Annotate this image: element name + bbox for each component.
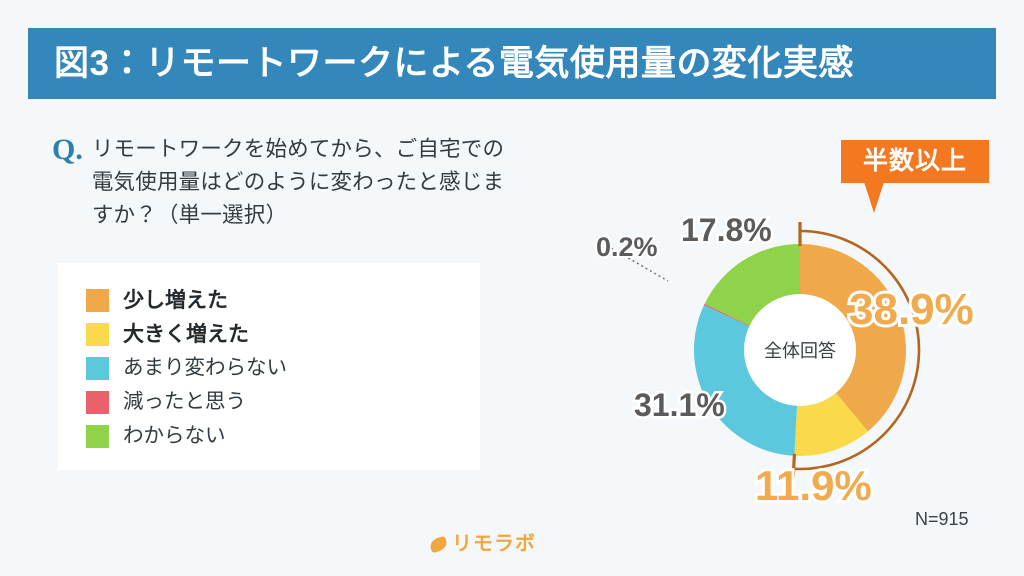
half-or-more-badge-label: 半数以上 <box>863 149 967 174</box>
sample-size-label: N=915 <box>915 510 969 528</box>
question-marker: Q. <box>52 135 83 165</box>
page-title: 図3：リモートワークによる電気使用量の変化実感 <box>54 46 854 81</box>
question-block: Q. リモートワークを始めてから、ご自宅での 電気使用量はどのように変わったと感… <box>52 133 612 232</box>
data-label-amari-kawaranai: 31.1% <box>634 389 725 421</box>
legend-item: 少し増えた <box>86 283 480 317</box>
legend-item-label: 大きく増えた <box>123 324 249 345</box>
legend-item-label: わからない <box>123 426 226 447</box>
legend-swatch-icon <box>86 357 109 380</box>
question-line-3: すか？（単一選択） <box>92 199 504 232</box>
leaf-icon <box>428 535 448 553</box>
data-label-hetta-to-omou: 0.2% <box>596 234 658 261</box>
footer-logo-label: リモラボ <box>452 534 536 554</box>
infographic-root: 図3：リモートワークによる電気使用量の変化実感 Q. リモートワークを始めてから… <box>0 0 1024 576</box>
legend-swatch-icon <box>86 391 109 414</box>
data-label-wakaranai: 17.8% <box>681 214 772 246</box>
legend-item: あまり変わらない <box>86 351 480 385</box>
question-line-1: リモートワークを始めてから、ご自宅での <box>92 133 504 166</box>
footer-logo: リモラボ <box>430 534 536 554</box>
legend-item-label: あまり変わらない <box>123 358 287 379</box>
legend: 少し増えた 大きく増えた あまり変わらない 減ったと思う わからない <box>58 263 480 470</box>
question-line-2: 電気使用量はどのように変わったと感じま <box>92 166 504 199</box>
legend-item: わからない <box>86 419 480 453</box>
donut-hole <box>744 294 856 406</box>
data-label-ookiku-fueta: 11.9% <box>755 465 872 507</box>
data-label-sukoshi-fueta: 38.9% <box>849 288 974 332</box>
badge-tail-icon <box>864 182 884 213</box>
legend-swatch-icon <box>86 425 109 448</box>
legend-swatch-icon <box>86 289 109 312</box>
question-text: リモートワークを始めてから、ご自宅での 電気使用量はどのように変わったと感じま … <box>92 133 504 232</box>
title-banner: 図3：リモートワークによる電気使用量の変化実感 <box>28 28 996 99</box>
legend-item: 大きく増えた <box>86 317 480 351</box>
legend-item-label: 減ったと思う <box>123 392 246 413</box>
half-or-more-badge: 半数以上 <box>841 140 989 183</box>
legend-item: 減ったと思う <box>86 385 480 419</box>
legend-item-label: 少し増えた <box>123 290 228 311</box>
legend-swatch-icon <box>86 323 109 346</box>
